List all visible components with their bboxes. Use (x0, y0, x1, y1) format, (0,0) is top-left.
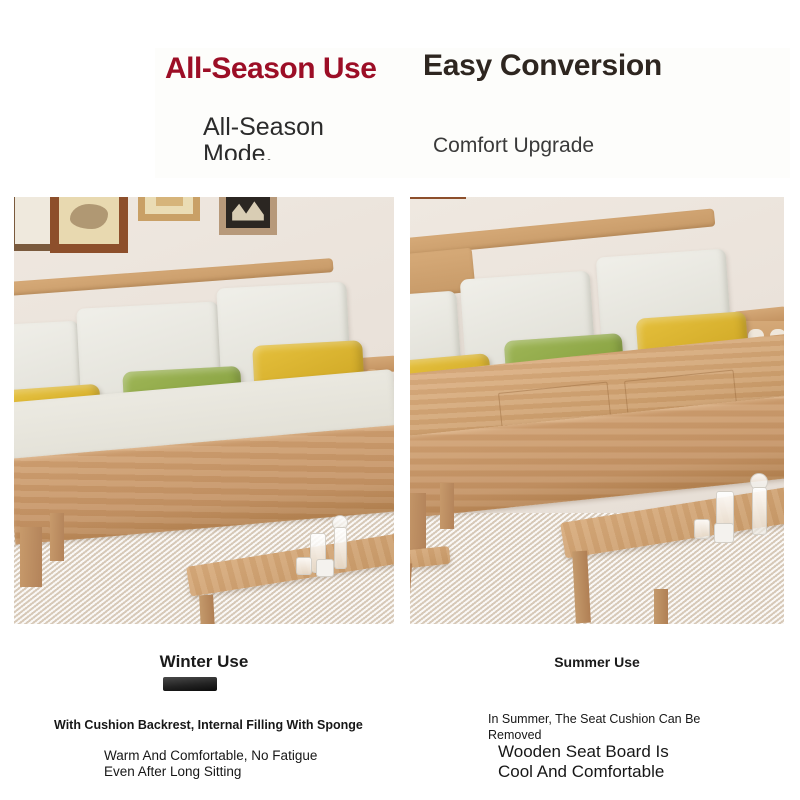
sofa-leg-left (20, 527, 42, 587)
caption-winter-line-2a: Warm And Comfortable, No Fatigue (104, 748, 394, 764)
sofa-leg-left (410, 493, 426, 551)
coffee-table-leg (199, 595, 215, 624)
caption-winter-line-2b: Even After Long Sitting (104, 764, 394, 780)
sofa-leg-mid (440, 483, 454, 529)
glass-bottle-2 (752, 487, 767, 535)
glass-cup-2 (316, 559, 334, 577)
caption-winter-line-1: With Cushion Backrest, Internal Filling … (54, 718, 364, 732)
photo-summer (410, 197, 784, 624)
sofa-leg-mid (50, 513, 64, 561)
caption-summer-line-2a: Wooden Seat Board Is (498, 742, 768, 762)
wall-frame-partial (410, 197, 466, 199)
headline-primary: All-Season Use (165, 52, 376, 86)
caption-title-winter: Winter Use (14, 652, 394, 672)
glass-cup-1 (694, 519, 710, 539)
glass-cup-1 (296, 557, 312, 575)
glass-bottle-2 (334, 527, 347, 569)
caption-title-summer: Summer Use (410, 654, 784, 670)
caption-summer-line-2b: Cool And Comfortable (498, 762, 768, 782)
caption-winter-line-2: Warm And Comfortable, No Fatigue Even Af… (104, 748, 394, 780)
caption-summer-line-2: Wooden Seat Board Is Cool And Comfortabl… (498, 742, 768, 781)
header-panel: All-Season Use Easy Conversion All-Seaso… (155, 48, 790, 178)
headline-secondary: Easy Conversion (423, 49, 662, 83)
headline-row: All-Season Use Easy Conversion (155, 48, 790, 104)
subheading-left: All-Season Mode, (203, 114, 373, 160)
wall-frame-3 (138, 197, 200, 221)
subheading-right: Comfort Upgrade (433, 134, 594, 158)
caption-summer-line-1: In Summer, The Seat Cushion Can Be Remov… (488, 712, 718, 743)
fabric-swatch-dark-icon (163, 677, 217, 691)
glass-cup-2 (714, 523, 734, 543)
coffee-table-leg-right (654, 589, 668, 624)
wall-frame-2 (50, 197, 128, 253)
wall-frame-4 (219, 197, 277, 235)
photo-winter (14, 197, 394, 624)
